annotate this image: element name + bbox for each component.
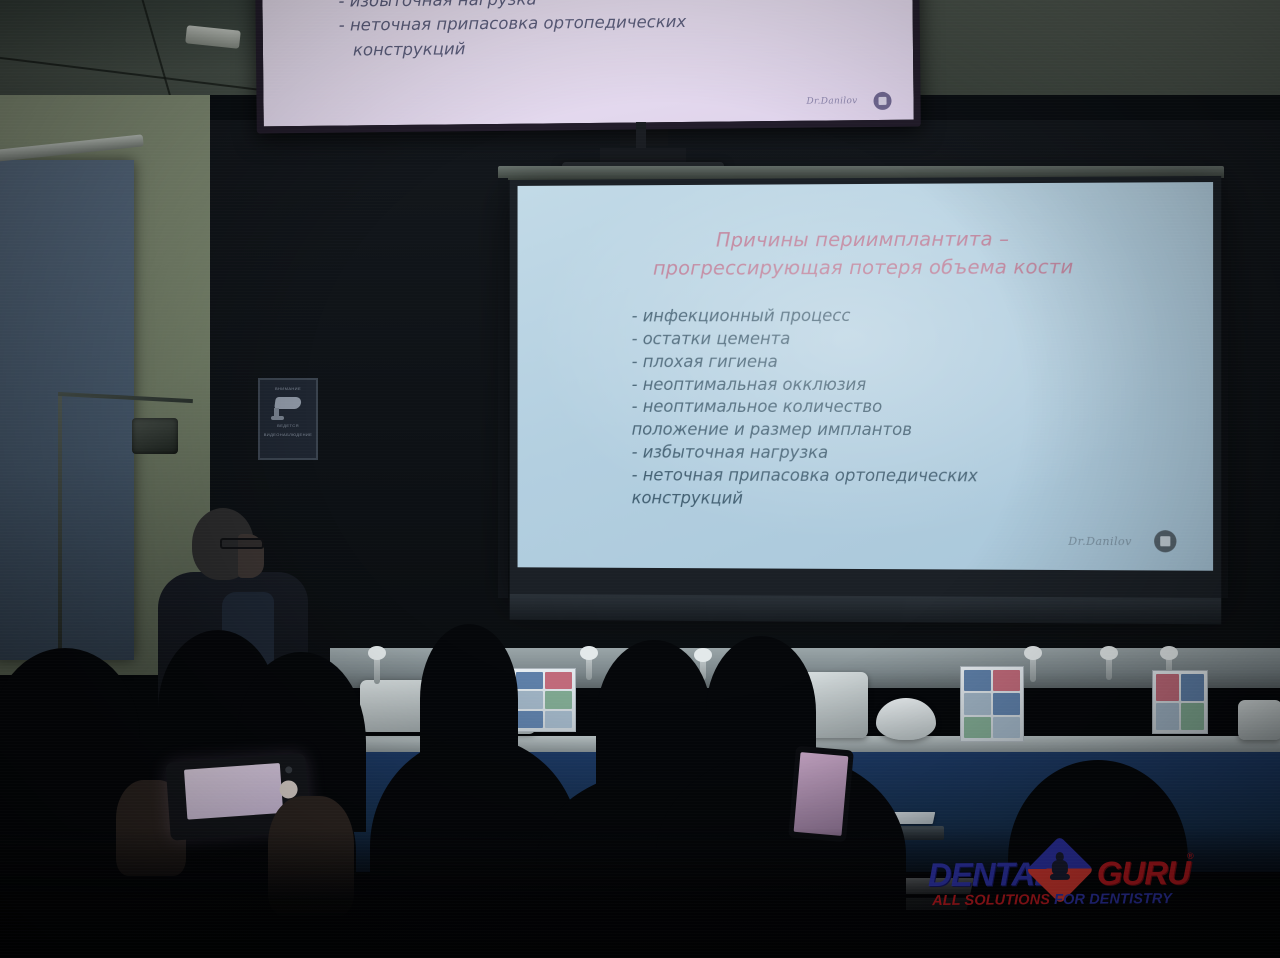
- tv-signature-row: Dr.Danilov: [806, 92, 891, 111]
- presenter-glasses-icon: [220, 538, 264, 549]
- logo-registered-mark: ®: [1187, 851, 1194, 861]
- lab-unit-left: [360, 680, 428, 732]
- screen-bottom-bar: [510, 594, 1222, 624]
- screen-side-left: [498, 178, 508, 598]
- logo-guru-text: GURU: [1097, 854, 1191, 893]
- equipment-knob: [1160, 646, 1178, 660]
- tv-signature: Dr.Danilov: [806, 96, 857, 107]
- phone-screen: [184, 763, 283, 820]
- lecture-hall-photo: ВНИМАНИЕ ВЕДЕТСЯ ВИДЕОНАБЛЮДЕНИЕ - избыт…: [0, 0, 1280, 958]
- tv-logo-badge-icon: [873, 92, 891, 110]
- slide-bullet: - неточная припасовка ортопедических: [632, 464, 1213, 488]
- tv-screen: - избыточная нагрузка - неточная припасо…: [262, 0, 913, 126]
- presentation-slide: Причины периимплантита – прогрессирующая…: [518, 182, 1214, 571]
- equipment-knob: [368, 646, 386, 660]
- instruction-poster: [960, 666, 1024, 742]
- equipment-knob: [580, 646, 598, 660]
- equipment-knob: [694, 648, 712, 662]
- instruction-poster: [1152, 670, 1208, 734]
- phone-screen: [794, 752, 849, 836]
- slide-bullet: - плохая гигиена: [632, 351, 1213, 374]
- cctv-sign-title: ВНИМАНИЕ: [272, 386, 304, 391]
- slide-bullet: - избыточная нагрузка: [632, 442, 1213, 466]
- slide-bullet-list: - инфекционный процесс - остатки цемента…: [518, 280, 1214, 511]
- slide-bullet: - инфекционный процесс: [632, 305, 1213, 329]
- tv-monitor: - избыточная нагрузка - неточная припасо…: [255, 0, 921, 133]
- slide-bullet: - остатки цемента: [632, 328, 1213, 352]
- phone-sensor-icon: [285, 766, 292, 773]
- slide-title: Причины периимплантита – прогрессирующая…: [518, 182, 1214, 282]
- lamp-head: [132, 418, 178, 454]
- lab-unit-right: [1238, 700, 1280, 740]
- slide-bullet: - неоптимальная окклюзия: [632, 374, 1213, 397]
- cctv-camera-icon: [271, 395, 305, 419]
- slide-bullet: конструкций: [632, 487, 1213, 512]
- instruction-poster: [512, 668, 576, 732]
- logo-tagline-part-one: ALL SOLUTIONS: [932, 892, 1054, 909]
- cctv-sign-subtitle: ВЕДЕТСЯ: [274, 423, 302, 428]
- cctv-sign-note: ВИДЕОНАБЛЮДЕНИЕ: [261, 432, 316, 437]
- lab-ultrasonic-cleaner: [876, 698, 936, 740]
- logo-tagline: ALL SOLUTIONS FOR DENTISTRY: [932, 891, 1190, 909]
- projection-screen: Причины периимплантита – прогрессирующая…: [510, 176, 1222, 600]
- slide-title-line: Причины периимплантита –: [518, 224, 1214, 255]
- slide-signature-row: Dr.Danilov: [1068, 530, 1176, 553]
- equipment-knob: [1100, 646, 1118, 660]
- cctv-warning-sign: ВНИМАНИЕ ВЕДЕТСЯ ВИДЕОНАБЛЮДЕНИЕ: [258, 378, 318, 460]
- slide-bullet: положение и размер имплантов: [632, 419, 1213, 442]
- logo-tagline-part-two: FOR DENTISTRY: [1054, 891, 1172, 908]
- equipment-knob: [1024, 646, 1042, 660]
- logo-buddha-icon: [1050, 852, 1070, 886]
- slide-logo-badge-icon: [1154, 530, 1176, 552]
- slide-title-line: прогрессирующая потеря объема кости: [518, 252, 1214, 282]
- dental-guru-watermark: DENTAL GURU ® ALL SOLUTIONS FOR DENTISTR…: [928, 847, 1191, 917]
- slide-bullet: - неоптимальное количество: [632, 396, 1213, 419]
- lamp-pole: [58, 392, 62, 662]
- tv-line: конструкций: [339, 32, 913, 62]
- wall-board-blue: [0, 160, 134, 660]
- ceiling-speaker-icon: [185, 25, 241, 49]
- slide-signature: Dr.Danilov: [1068, 534, 1131, 547]
